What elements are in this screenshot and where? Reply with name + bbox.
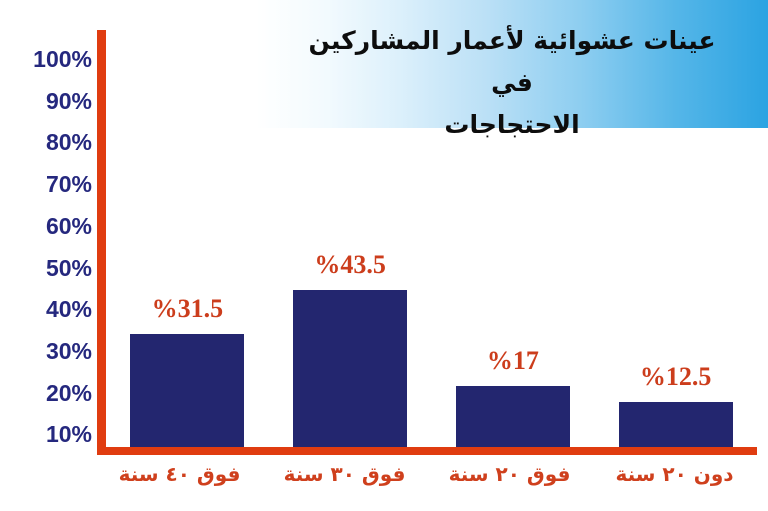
x-axis-category-label: دون ٢٠ سنة — [592, 462, 757, 486]
bar — [130, 334, 244, 447]
bar-value-label: %12.5 — [599, 362, 753, 392]
x-axis-labels: دون ٢٠ سنةفوق ٢٠ سنةفوق ٣٠ سنةفوق ٤٠ سنة — [97, 462, 757, 508]
plot-area: %31.5%43.5%17%12.5 — [106, 30, 757, 447]
x-axis-category-label: فوق ٤٠ سنة — [97, 462, 262, 486]
x-axis-category-label: فوق ٣٠ سنة — [262, 462, 427, 486]
x-axis-category-label: فوق ٢٠ سنة — [427, 462, 592, 486]
y-axis-tick-label: 90% — [6, 90, 92, 113]
y-axis-tick-label: 60% — [6, 215, 92, 238]
y-axis-tick-label: 30% — [6, 340, 92, 363]
chart-canvas: عينات عشوائية لأعمار المشاركين في الاحتج… — [0, 0, 768, 511]
x-axis-line — [97, 447, 757, 455]
y-axis-tick-label: 20% — [6, 382, 92, 405]
bar-value-label: %31.5 — [110, 294, 264, 324]
y-axis-tick-label: 100% — [6, 48, 92, 71]
y-axis-tick-label: 40% — [6, 298, 92, 321]
y-axis-tick-label: 70% — [6, 173, 92, 196]
bar — [619, 402, 733, 447]
bar — [456, 386, 570, 447]
y-axis-line — [97, 30, 106, 455]
y-axis-tick-label: 50% — [6, 257, 92, 280]
y-axis-tick-label: 80% — [6, 131, 92, 154]
y-axis-tick-label: 10% — [6, 423, 92, 446]
bar — [293, 290, 407, 447]
bar-value-label: %43.5 — [273, 250, 427, 280]
bar-value-label: %17 — [436, 346, 590, 376]
y-axis-labels: 100%90%80%70%60%50%40%30%20%10% — [0, 0, 92, 511]
